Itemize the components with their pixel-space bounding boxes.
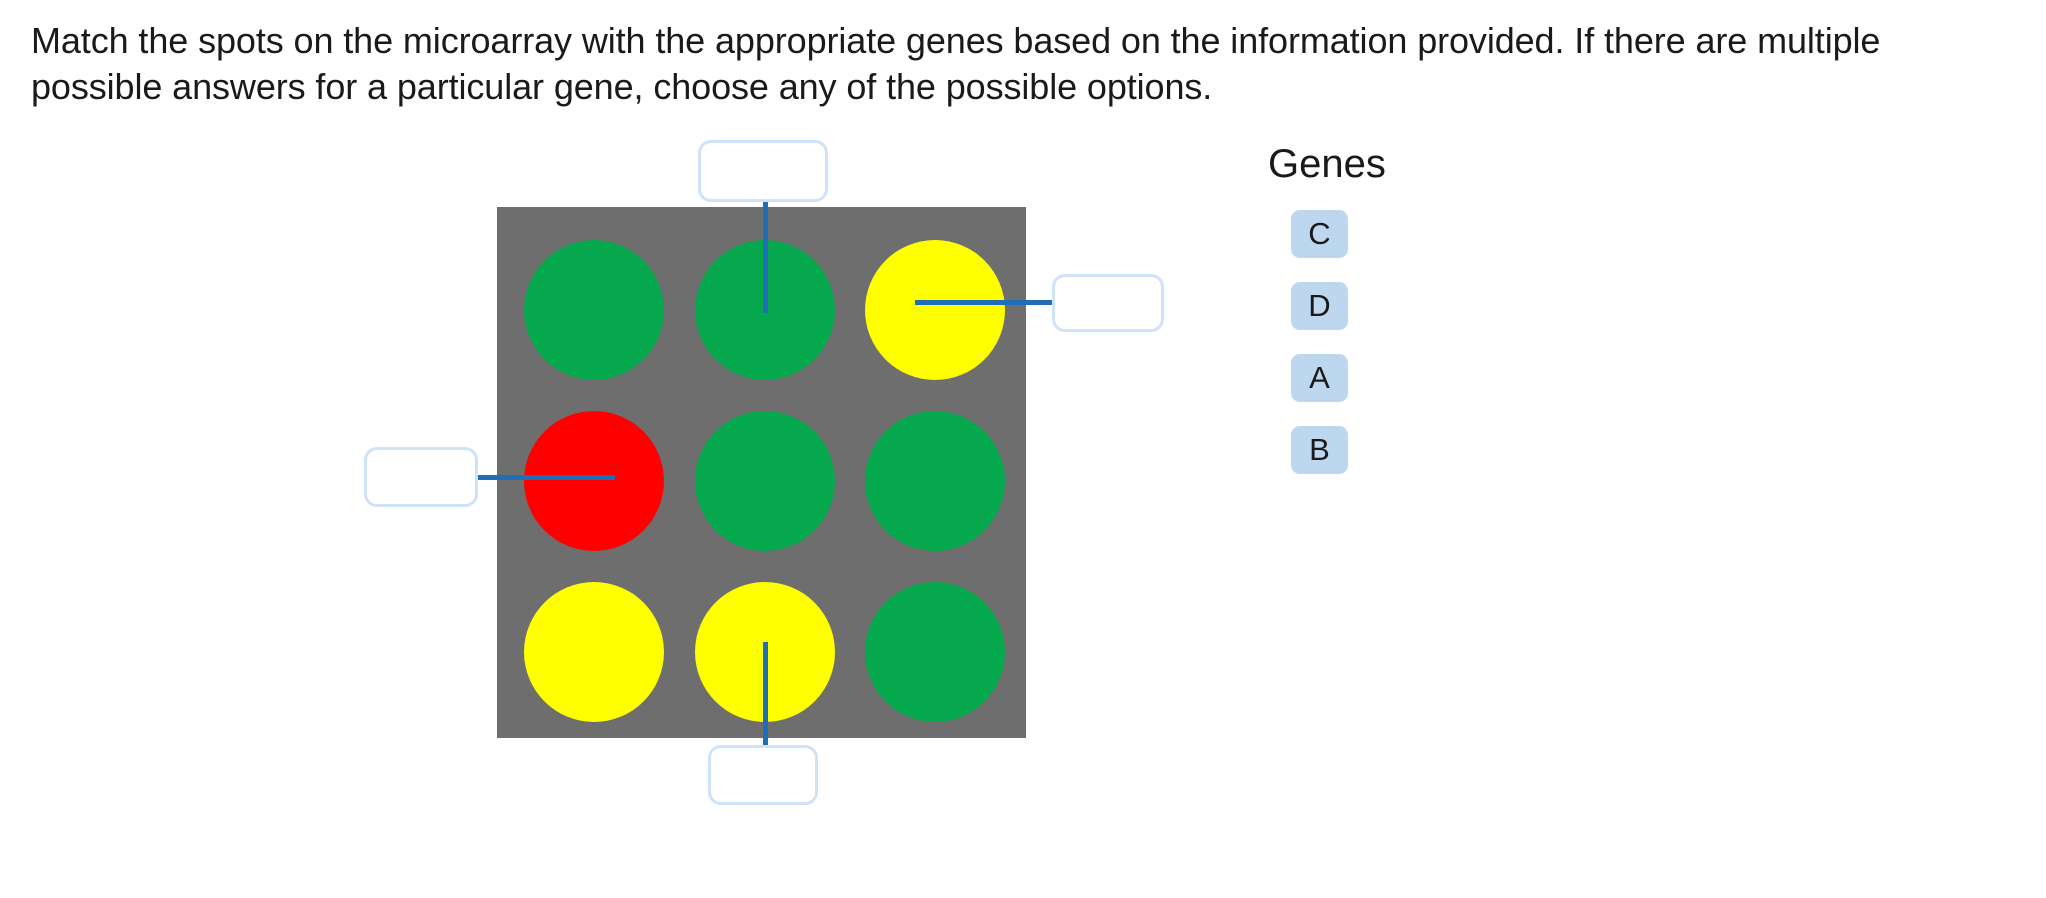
microarray-spot-r2c3[interactable]: [865, 411, 1005, 551]
microarray-spot-r2c1[interactable]: [524, 411, 664, 551]
microarray-spot-r1c1[interactable]: [524, 240, 664, 380]
genes-panel-title: Genes: [1268, 140, 1525, 188]
gene-chip-c[interactable]: C: [1291, 210, 1348, 258]
dropbox-right[interactable]: [1052, 274, 1164, 332]
connector-line-right: [915, 300, 1055, 305]
connector-line-bottom: [763, 642, 768, 752]
connector-line-top: [763, 198, 768, 313]
connector-line-left: [472, 475, 615, 480]
microarray-spot-r3c3[interactable]: [865, 582, 1005, 722]
gene-chip-a[interactable]: A: [1291, 354, 1348, 402]
instruction-text: Match the spots on the microarray with t…: [31, 18, 2021, 110]
microarray-spot-r1c3[interactable]: [865, 240, 1005, 380]
gene-chip-d[interactable]: D: [1291, 282, 1348, 330]
gene-chip-b[interactable]: B: [1291, 426, 1348, 474]
microarray-spot-r3c1[interactable]: [524, 582, 664, 722]
genes-panel: Genes C D A B: [1265, 140, 1525, 498]
microarray-spot-r2c2[interactable]: [695, 411, 835, 551]
dropbox-bottom[interactable]: [708, 745, 818, 805]
dropbox-top[interactable]: [698, 140, 828, 202]
dropbox-left[interactable]: [364, 447, 478, 507]
microarray-plate: [497, 207, 1026, 738]
